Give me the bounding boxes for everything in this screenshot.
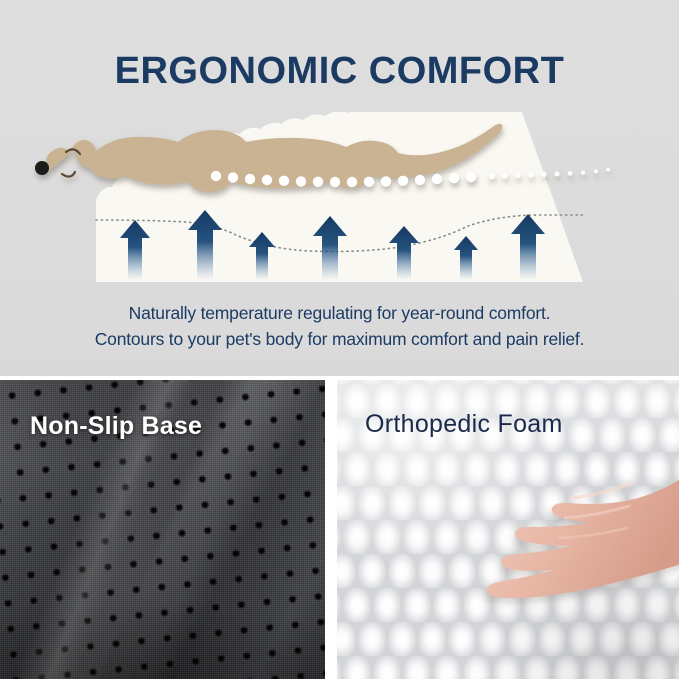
panel-orthopedic-foam: Orthopedic Foam bbox=[337, 380, 679, 679]
dog-on-memory-foam-diagram bbox=[0, 112, 679, 292]
panel-label-orthopedic-foam: Orthopedic Foam bbox=[365, 410, 563, 439]
caption-line-2: Contours to your pet's body for maximum … bbox=[0, 326, 679, 352]
hero-caption: Naturally temperature regulating for yea… bbox=[0, 300, 679, 352]
hand-body bbox=[487, 462, 679, 598]
hand-tendon-1 bbox=[573, 484, 631, 498]
dog-mouth bbox=[62, 172, 75, 177]
dog-nose bbox=[35, 161, 49, 175]
infographic-root: ERGONOMIC COMFORT bbox=[0, 0, 679, 679]
panel-non-slip-base: Non-Slip Base bbox=[0, 380, 325, 679]
panel-label-non-slip-base: Non-Slip Base bbox=[30, 412, 202, 441]
mattress-body bbox=[96, 112, 583, 282]
hand-pressing-foam bbox=[397, 454, 679, 614]
foam-mattress-block bbox=[96, 112, 583, 282]
caption-line-1: Naturally temperature regulating for yea… bbox=[0, 300, 679, 326]
page-title: ERGONOMIC COMFORT bbox=[0, 50, 679, 93]
hand-shape bbox=[487, 462, 679, 598]
panel-gap-vertical bbox=[325, 376, 337, 679]
hero-panel: ERGONOMIC COMFORT bbox=[0, 0, 679, 376]
